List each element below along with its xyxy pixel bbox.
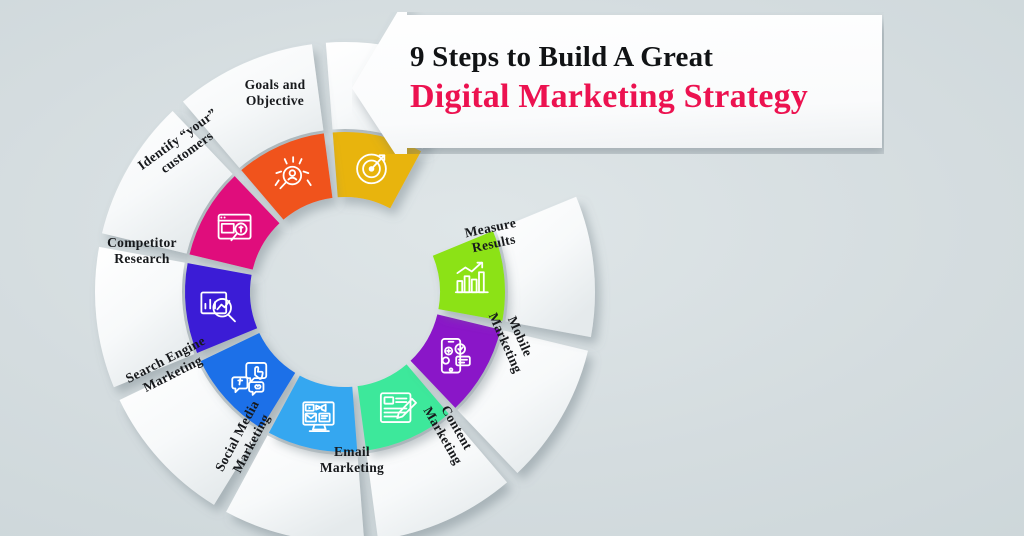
segment-label-6: Email Marketing [282,444,422,475]
title-banner: 9 Steps to Build A Great Digital Marketi… [352,12,884,154]
infographic-canvas: 9 Steps to Build A Great Digital Marketi… [0,0,1024,536]
page-title-line2: Digital Marketing Strategy [410,79,880,116]
page-title-line1: 9 Steps to Build A Great [410,42,880,73]
title-text-block: 9 Steps to Build A Great Digital Marketi… [410,42,880,116]
segment-label-3: Competitor Research [72,235,212,266]
